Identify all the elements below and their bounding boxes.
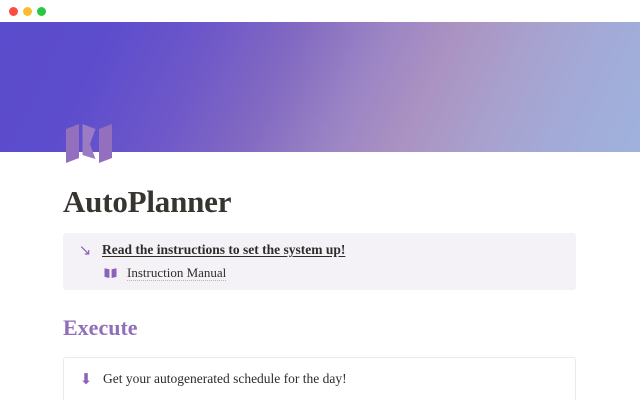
arrow-down-right-icon: ↘ — [77, 242, 93, 258]
window-minimize-button[interactable] — [23, 7, 32, 16]
window-titlebar — [0, 0, 640, 22]
instruction-manual-link[interactable]: Instruction Manual — [127, 266, 226, 281]
callout-instructions[interactable]: ↘ Read the instructions to set the syste… — [63, 233, 576, 290]
callout-schedule-text[interactable]: Get your autogenerated schedule for the … — [103, 371, 347, 387]
folded-map-icon[interactable] — [64, 122, 116, 166]
arrow-down-icon: ⬇ — [78, 371, 94, 387]
instruction-manual-link-row[interactable]: Instruction Manual — [102, 265, 562, 281]
window-close-button[interactable] — [9, 7, 18, 16]
callout-schedule[interactable]: ⬇ Get your autogenerated schedule for th… — [63, 357, 576, 400]
page-title: AutoPlanner — [63, 184, 231, 220]
window-maximize-button[interactable] — [37, 7, 46, 16]
callout-instructions-row: ↘ Read the instructions to set the syste… — [77, 242, 562, 258]
open-book-icon — [102, 265, 118, 281]
callout-schedule-row: ⬇ Get your autogenerated schedule for th… — [78, 371, 561, 387]
section-heading-execute: Execute — [63, 315, 138, 341]
callout-instructions-heading[interactable]: Read the instructions to set the system … — [102, 242, 345, 257]
app-window: AutoPlanner ↘ Read the instructions to s… — [0, 0, 640, 400]
